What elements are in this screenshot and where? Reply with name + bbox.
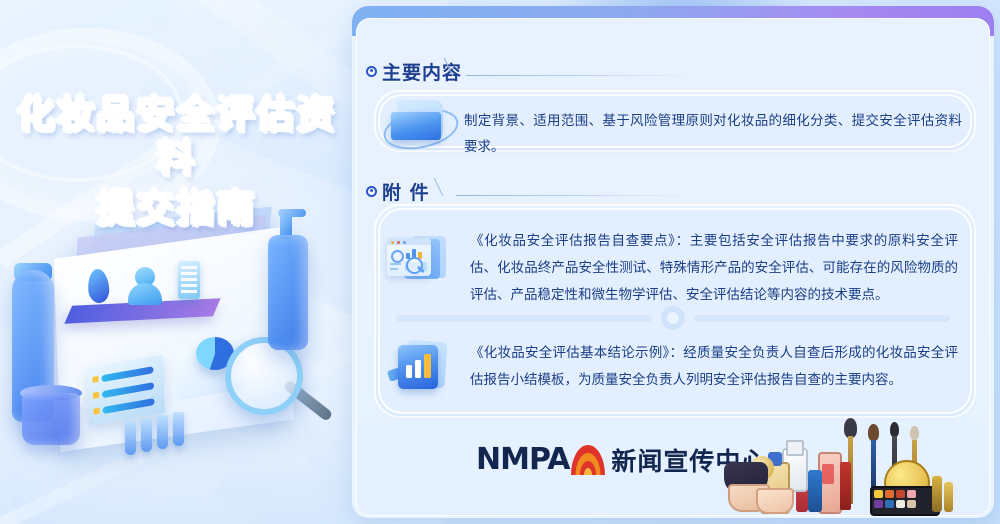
mascara-icon bbox=[932, 476, 942, 512]
test-tube-icon bbox=[157, 415, 168, 449]
lipstick-icon bbox=[840, 462, 851, 510]
report-window-search-icon bbox=[386, 232, 450, 286]
main-content-text: 制定背景、适用范围、基于风险管理原则对化妆品的细化分类、提交安全评估资料要求。 bbox=[464, 108, 962, 160]
section-title: 附 件 bbox=[382, 178, 430, 205]
section-header-attachments: 附 件 bbox=[366, 178, 430, 204]
divider-ring-icon bbox=[661, 306, 685, 330]
serum-bottle-icon bbox=[808, 470, 822, 512]
logo-brand-text: NMPA bbox=[476, 445, 569, 475]
document-lines-icon bbox=[178, 261, 200, 299]
circle-dot-icon bbox=[366, 66, 377, 77]
clipboard-chart-icon bbox=[390, 340, 450, 392]
test-tube-icon bbox=[141, 418, 152, 452]
title-line-2: 提交指南 bbox=[0, 186, 352, 230]
circle-dot-icon bbox=[366, 186, 377, 197]
test-tube-icon bbox=[173, 412, 184, 446]
poster-title: 化妆品安全评估资料 提交指南 bbox=[0, 92, 352, 230]
cosmetics-products-cluster-icon bbox=[752, 418, 994, 518]
title-line-1: 化妆品安全评估资料 bbox=[0, 92, 352, 180]
poster-root: 化妆品安全评估资料 提交指南 bbox=[0, 0, 1000, 524]
cream-jar-icon bbox=[22, 393, 80, 445]
attachment-2-text: 《化妆品安全评估基本结论示例》：经质量安全负责人自查后形成的化妆品安全评估报告小… bbox=[470, 340, 958, 394]
cosmetics-lab-3d-illustration bbox=[0, 225, 355, 524]
lip-gloss-icon bbox=[944, 482, 953, 512]
content-panel: 主要内容 制定背景、适用范围、基于风险管理原则对化妆品的细化分类、提交安全评估资… bbox=[352, 6, 994, 518]
pump-bottle-icon bbox=[268, 235, 308, 350]
nmpa-arc-icon bbox=[571, 445, 605, 475]
folder-icon bbox=[388, 98, 450, 146]
test-tube-icon bbox=[125, 421, 136, 455]
attachment-1-text: 《化妆品安全评估报告自查要点》：主要包括安全评估报告中要求的原料安全评估、化妆品… bbox=[470, 228, 958, 309]
card-divider bbox=[396, 306, 952, 330]
powder-puff-icon bbox=[756, 488, 794, 514]
